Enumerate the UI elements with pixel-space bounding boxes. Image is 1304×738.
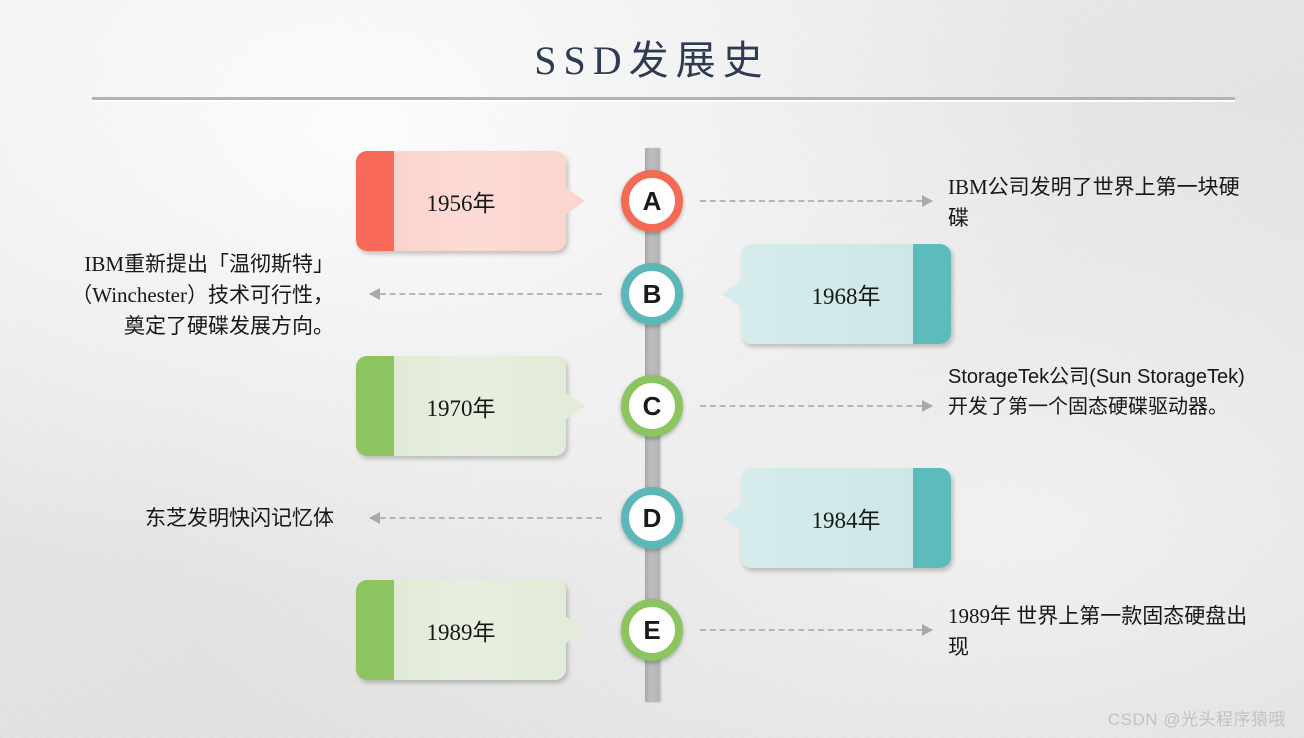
title-divider <box>92 97 1235 100</box>
page-title: SSD发展史 <box>0 28 1304 86</box>
timeline-node-b[interactable]: B <box>621 263 683 325</box>
callout-pointer <box>565 616 585 644</box>
callout-accent-strip <box>356 151 394 251</box>
timeline-node-a[interactable]: A <box>621 170 683 232</box>
timeline-node-d[interactable]: D <box>621 487 683 549</box>
connector-dash <box>700 629 932 631</box>
year-callout-1984[interactable]: 1984年 <box>741 468 951 568</box>
event-description-1984: 东芝发明快闪记忆体 <box>4 503 334 534</box>
arrow-head-icon <box>369 512 380 524</box>
callout-pointer <box>565 187 585 215</box>
year-label: 1968年 <box>812 277 881 311</box>
connector-arrow-c <box>700 400 932 412</box>
callout-pointer <box>722 280 742 308</box>
connector-arrow-e <box>700 624 932 636</box>
year-label: 1956年 <box>427 184 496 218</box>
callout-pointer <box>565 392 585 420</box>
arrow-head-icon <box>369 288 380 300</box>
callout-pointer <box>722 504 742 532</box>
arrow-head-icon <box>922 400 933 412</box>
connector-arrow-d <box>370 512 602 524</box>
connector-arrow-b <box>370 288 602 300</box>
csdn-watermark: CSDN @光头程序猿哦 <box>1108 705 1286 730</box>
arrow-head-icon <box>922 195 933 207</box>
node-marker-label: B <box>643 279 662 310</box>
year-label: 1984年 <box>812 501 881 535</box>
connector-dash <box>370 293 602 295</box>
slide-canvas: SSD发展史 1956年 A IBM公司发明了世界上第一块硬碟 1968年 B … <box>0 0 1304 738</box>
node-marker-label: A <box>643 186 662 217</box>
connector-dash <box>700 405 932 407</box>
year-callout-1956[interactable]: 1956年 <box>356 151 566 251</box>
arrow-head-icon <box>922 624 933 636</box>
callout-accent-strip <box>913 468 951 568</box>
timeline-node-c[interactable]: C <box>621 375 683 437</box>
connector-dash <box>700 200 932 202</box>
year-label: 1970年 <box>427 389 496 423</box>
year-callout-1970[interactable]: 1970年 <box>356 356 566 456</box>
event-description-1956: IBM公司发明了世界上第一块硬碟 <box>948 172 1258 234</box>
callout-accent-strip <box>913 244 951 344</box>
node-marker-label: D <box>643 503 662 534</box>
connector-dash <box>370 517 602 519</box>
node-marker-label: C <box>643 391 662 422</box>
year-label: 1989年 <box>427 613 496 647</box>
event-description-1989: 1989年 世界上第一款固态硬盘出现 <box>948 601 1258 663</box>
event-description-1970: StorageTek公司(Sun StorageTek)开发了第一个固态硬碟驱动… <box>948 362 1258 422</box>
timeline-node-e[interactable]: E <box>621 599 683 661</box>
connector-arrow-a <box>700 195 932 207</box>
node-marker-label: E <box>643 615 660 646</box>
event-description-1968: IBM重新提出「温彻斯特」 （Winchester）技术可行性， 奠定了硬碟发展… <box>4 249 334 342</box>
callout-accent-strip <box>356 580 394 680</box>
year-callout-1989[interactable]: 1989年 <box>356 580 566 680</box>
year-callout-1968[interactable]: 1968年 <box>741 244 951 344</box>
callout-accent-strip <box>356 356 394 456</box>
